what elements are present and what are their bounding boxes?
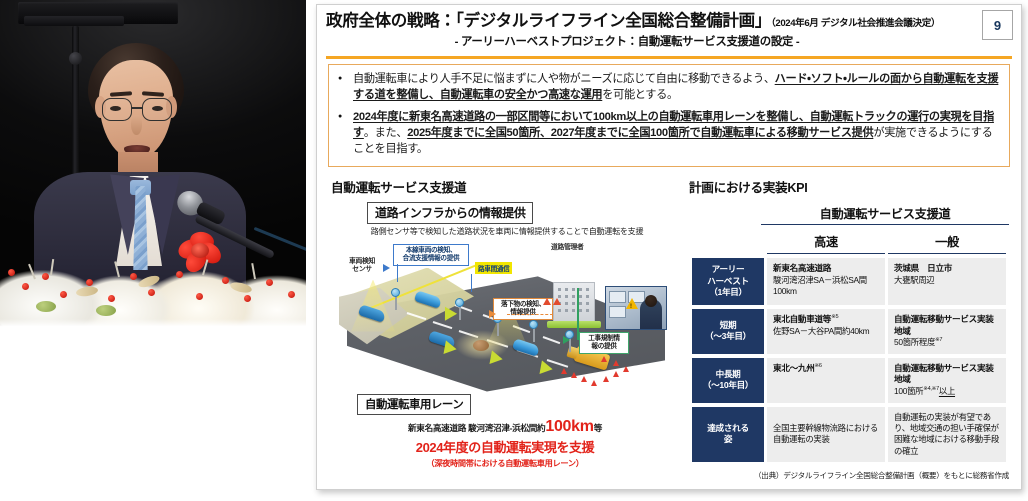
diagram-footer-line3: （深夜時間帯における自動運転車用レーン）: [331, 457, 679, 469]
slide-canvas: 政府全体の戦略：「デジタルライフライン全国総合整備計画」（2024年6月 デジタ…: [0, 0, 1028, 501]
cell-ippan: 自動運転の実装が有望であり、地域交通の担い手確保が困難な地域における移動手段の確…: [888, 407, 1006, 463]
table-row: 中長期（～10年目）東北～九州※6自動運転移動サービス実装地域100箇所※4,※…: [692, 358, 1006, 403]
slide-body: 自動運転サービス支援道 道路インフラからの情報提供 路側センサ等で検知した道路状…: [331, 177, 1009, 467]
cell-kousoku: 東北～九州※6: [767, 358, 885, 403]
bullet-text-segment: 自動運転車により人手不足に悩まずに人や物がニーズに応じて自由に移動できるよう、: [353, 73, 775, 85]
kpi-super-header-rule: [761, 224, 1009, 226]
row-header: 達成される姿: [692, 407, 764, 463]
cell-kousoku: 東北自動車道等※5佐野SA－大谷PA間約40km: [767, 309, 885, 354]
alert-marker: [543, 298, 551, 305]
lane-label-box: 自動運転車用レーン: [357, 394, 471, 415]
diagram-subtitle: 路側センサ等で検知した道路状況を車両に情報提供することで自動運転を支援: [339, 226, 675, 237]
page-title: 政府全体の戦略：「デジタルライフライン全国総合整備計画」（2024年6月 デジタ…: [326, 12, 968, 32]
list-item: 2024年度に新東名高速道路の一部区間等において100km以上の自動運転車用レー…: [337, 110, 999, 158]
road-infrastructure-diagram: 道路インフラからの情報提供 路側センサ等で検知した道路状況を車両に情報提供するこ…: [331, 202, 679, 447]
header-divider: [326, 56, 1012, 59]
kpi-table: 高速 一般 アーリーハーベスト（1年目）新東名高速道路駿河湾沼津SA－浜松SA間…: [689, 227, 1009, 466]
row-header: 中長期（～10年目）: [692, 358, 764, 403]
diagram-footer-line2: 2024年度の自動運転実現を支援: [331, 437, 679, 456]
bullet-text-segment: を可能とする。: [602, 89, 678, 101]
diagram-footer-line1: 新東名高速道路 駿河湾沼津-浜松間約100km等: [331, 418, 679, 436]
distance-value: 100km: [545, 418, 593, 435]
dashed-connector: [507, 314, 553, 315]
connector-line: [577, 288, 579, 340]
right-column: 計画における実装KPI 自動運転サービス支援道 高速 一般 アーリーハーベスト（…: [689, 177, 1009, 467]
connector-arrow: [563, 336, 570, 344]
table-body: アーリーハーベスト（1年目）新東名高速道路駿河湾沼津SA－浜松SA間100km茨…: [692, 258, 1006, 462]
page-number: 9: [982, 10, 1013, 40]
roadside-sensor-icon: [391, 288, 400, 297]
cell-ippan: 茨城県 日立市大甕駅周辺: [888, 258, 1006, 305]
table-row: 短期（～3年目）東北自動車道等※5佐野SA－大谷PA間約40km自動運転移動サー…: [692, 309, 1006, 354]
cell-kousoku: 全国主要幹線物流路における自動運転の実装: [767, 407, 885, 463]
source-note: （出典）デジタルライフライン全国総合整備計画（概要）をもとに総務省作成: [754, 470, 1009, 481]
speaker-nose: [131, 115, 142, 135]
cell-ippan: 自動運転移動サービス実装地域100箇所※4,※7以上: [888, 358, 1006, 403]
table-corner-spacer: [692, 231, 764, 254]
alert-marker: [553, 298, 561, 305]
building-base: [547, 321, 601, 328]
callout-construction-info: 工事規制情報の提供: [579, 332, 629, 354]
bullet-text-segment: 2025年度までに全国50箇所、2027年度までに全国100箇所で自動運転車によ…: [407, 127, 873, 139]
summary-bullet-list: 自動運転車により人手不足に悩まずに人や物がニーズに応じて自由に移動できるよう、ハ…: [337, 72, 999, 158]
kpi-super-header: 自動運転サービス支援道: [761, 204, 1009, 222]
table-row: アーリーハーベスト（1年目）新東名高速道路駿河湾沼津SA－浜松SA間100km茨…: [692, 258, 1006, 305]
column-header-ippan: 一般: [888, 231, 1006, 254]
label-road-manager: 道路管理者: [551, 244, 583, 252]
left-section-title: 自動運転サービス支援道: [331, 177, 683, 196]
photo-bottom-fade: [0, 319, 306, 327]
roadside-sensor-icon: [529, 320, 538, 329]
right-section-title: 計画における実装KPI: [689, 177, 1009, 196]
speaker-photo: [0, 0, 306, 327]
slide-header: 政府全体の戦略：「デジタルライフライン全国総合整備計画」（2024年6月 デジタ…: [326, 12, 1012, 53]
page-subtitle: - アーリーハーベストプロジェクト：自動運転サービス支援道の設定 -: [326, 33, 968, 49]
page-title-main: 政府全体の戦略：「デジタルライフライン全国総合整備計画」: [326, 12, 771, 30]
operator-photo: !: [605, 286, 667, 330]
bullet-text-segment: 。また、: [364, 127, 407, 139]
fallen-object: [473, 340, 489, 351]
presentation-slide: 政府全体の戦略：「デジタルライフライン全国総合整備計画」（2024年6月 デジタ…: [316, 4, 1022, 490]
label-road-vehicle-comm: 路車間通信: [475, 262, 512, 274]
row-header: 短期（～3年目）: [692, 309, 764, 354]
operator-head: [645, 295, 657, 307]
connector-arrow: [383, 264, 390, 272]
list-item: 自動運転車により人手不足に悩まずに人や物がニーズに応じて自由に移動できるよう、ハ…: [337, 72, 999, 104]
stage-truss-secondary: [24, 16, 124, 26]
diagram-title-box: 道路インフラからの情報提供: [367, 202, 533, 224]
road-scene: !: [337, 264, 673, 396]
cell-kousoku: 新東名高速道路駿河湾沼津SA－浜松SA間100km: [767, 258, 885, 305]
connector-arrow: [489, 310, 496, 318]
table-row: 達成される姿全国主要幹線物流路における自動運転の実装自動運転の実装が有望であり、…: [692, 407, 1006, 463]
flower-arrangement: [0, 243, 306, 327]
page-title-note: （2024年6月 デジタル社会推進会議決定）: [771, 18, 940, 29]
label-vehicle-sensor: 車両検知センサ: [349, 258, 375, 275]
connector-line: [471, 274, 472, 292]
summary-box: 自動運転車により人手不足に悩まずに人や物がニーズに応じて自由に移動できるよう、ハ…: [328, 64, 1010, 167]
cell-ippan: 自動運転移動サービス実装地域50箇所程度※7: [888, 309, 1006, 354]
warning-exclamation: !: [630, 304, 632, 310]
row-header: アーリーハーベスト（1年目）: [692, 258, 764, 305]
roadside-sensor-icon: [455, 298, 464, 307]
warning-triangle-icon: [626, 298, 638, 309]
column-header-kousoku: 高速: [767, 231, 885, 254]
connector-line: [397, 264, 398, 282]
mic-stand-knob: [69, 52, 82, 65]
diagram-footer: 自動運転車用レーン 新東名高速道路 駿河湾沼津-浜松間約100km等 2024年…: [331, 394, 679, 469]
left-column: 自動運転サービス支援道 道路インフラからの情報提供 路側センサ等で検知した道路状…: [331, 177, 683, 467]
table-header-row: 高速 一般: [692, 231, 1006, 254]
callout-merge-support: 本線車両の検知、合流支援情報の提供: [393, 244, 469, 266]
